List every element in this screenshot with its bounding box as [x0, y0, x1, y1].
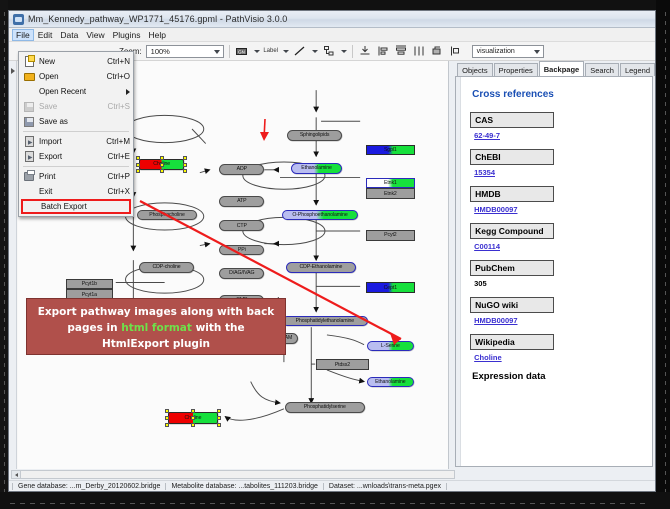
- selection-handle[interactable]: [165, 409, 169, 413]
- pathway-gene-node[interactable]: Pcyt1b: [66, 279, 113, 290]
- file-menu-separator-2: [23, 166, 129, 167]
- status-area: Gene database: ...m_Derby_20120602.bridg…: [9, 469, 655, 491]
- pathway-gene-node[interactable]: Etnk2: [366, 188, 415, 199]
- xref-source-box: Wikipedia: [470, 334, 554, 350]
- file-menu-item-exit[interactable]: Exit Ctrl+X: [19, 184, 133, 199]
- file-menu-label-print: Print: [39, 172, 108, 181]
- datanode-icon: GN: [236, 46, 247, 57]
- submenu-arrow-icon: [126, 89, 130, 95]
- selection-handle[interactable]: [136, 169, 140, 173]
- pathway-metabolite-node[interactable]: CDP-choline: [139, 262, 194, 273]
- selection-handle[interactable]: [160, 156, 164, 160]
- xref-list: CAS62-49-7ChEBI15354HMDBHMDB00097Kegg Co…: [470, 112, 642, 362]
- backpage-panel[interactable]: Cross references CAS62-49-7ChEBI15354HMD…: [455, 76, 653, 467]
- pathway-node-label: ADP: [237, 166, 247, 172]
- pathway-node-label: Cept1: [384, 285, 397, 291]
- pathway-node-label: L-Serine: [381, 343, 400, 349]
- selection-handle[interactable]: [165, 416, 169, 420]
- file-menu-dropdown[interactable]: New Ctrl+N Open Ctrl+O Open Recent Save …: [18, 51, 134, 217]
- selection-handle[interactable]: [136, 156, 140, 160]
- xref-source-box: NuGO wiki: [470, 297, 554, 313]
- file-menu-item-new[interactable]: New Ctrl+N: [19, 54, 133, 69]
- backpage-gutter: [456, 77, 461, 466]
- pathway-node-label: Ethanolamine: [301, 165, 332, 171]
- desktop-frame-bottom: [0, 492, 670, 509]
- pathway-node-label: CDP-Ethanolamine: [300, 264, 343, 270]
- file-menu-label-save: Save: [39, 102, 108, 111]
- pathway-node-label: Phosphatidylserine: [304, 404, 346, 410]
- toolbar-separator-2: [352, 45, 353, 58]
- file-menu-item-open-recent[interactable]: Open Recent: [19, 84, 133, 99]
- selection-handle[interactable]: [217, 409, 221, 413]
- pathway-node-label: CTP: [237, 223, 247, 229]
- pathway-node-label: Etnk2: [384, 191, 397, 197]
- file-menu-shortcut-new: Ctrl+N: [107, 57, 130, 66]
- selection-handle[interactable]: [191, 423, 195, 427]
- status-bar: Gene database: ...m_Derby_20120602.bridg…: [9, 480, 655, 491]
- visualization-combobox[interactable]: visualization: [472, 45, 544, 58]
- callout-line-3: HtmlExport plugin: [27, 336, 285, 352]
- distribute-icon: [413, 45, 425, 57]
- file-menu-item-import[interactable]: Import Ctrl+M: [19, 134, 133, 149]
- menu-file[interactable]: File: [12, 29, 34, 41]
- canvas-left-gutter: [9, 61, 17, 469]
- zoom-value: 100%: [151, 47, 170, 56]
- chevron-down-icon-2: [534, 50, 540, 54]
- interaction-dropdown-icon[interactable]: [340, 45, 347, 57]
- callout-line-2: pages in html format with the: [27, 320, 285, 336]
- file-menu-item-export[interactable]: Export Ctrl+E: [19, 149, 133, 164]
- frame-dashed-line-bottom: [10, 503, 650, 504]
- file-menu-label-save-as: Save as: [39, 117, 130, 126]
- file-menu-label-exit: Exit: [39, 187, 108, 196]
- align-top-button[interactable]: [358, 44, 372, 58]
- pathway-node-label: Phosphatidylethanolamine: [296, 318, 354, 324]
- pathway-metabolite-node[interactable]: Ethanolamine: [291, 163, 343, 174]
- blank-icon-3: [24, 200, 38, 213]
- menu-help[interactable]: Help: [145, 29, 170, 41]
- file-menu-label-import: Import: [39, 137, 106, 146]
- file-menu-item-batch-export[interactable]: Batch Export: [21, 199, 131, 214]
- save-as-icon: [22, 115, 36, 128]
- selection-handle[interactable]: [217, 423, 221, 427]
- pathway-metabolite-node[interactable]: CDP-Ethanolamine: [286, 262, 356, 273]
- selection-handle[interactable]: [160, 163, 164, 167]
- callout-line-2-pre: pages in: [67, 322, 121, 334]
- selection-handle[interactable]: [136, 163, 140, 167]
- pathway-metabolite-node[interactable]: O-Phosphoethanolamine: [282, 210, 358, 221]
- print-icon: [22, 170, 36, 183]
- pathway-gene-node[interactable]: Cept1: [366, 282, 415, 293]
- svg-text:GN: GN: [238, 49, 245, 54]
- line-button[interactable]: [293, 44, 307, 58]
- selection-handle[interactable]: [191, 409, 195, 413]
- blank-icon: [22, 85, 36, 98]
- frame-dashed-line-right: [665, 12, 666, 492]
- status-dataset: Dataset: ...wnloads\trans-meta.pgex: [324, 483, 447, 490]
- pathway-metabolite-node[interactable]: ATP: [219, 196, 264, 207]
- menu-bar: File Edit Data View Plugins Help: [9, 28, 655, 42]
- file-menu-item-save[interactable]: Save Ctrl+S: [19, 99, 133, 114]
- status-metabolite-database: Metabolite database: ...tabolites_111203…: [166, 483, 323, 490]
- pathway-node-label: Ptdss2: [335, 362, 350, 368]
- interaction-button[interactable]: [322, 44, 336, 58]
- file-menu-shortcut-exit: Ctrl+X: [108, 187, 130, 196]
- pathway-node-label: Pcyt1a: [82, 292, 97, 298]
- stack-icon: [449, 45, 461, 57]
- selection-handle[interactable]: [183, 169, 187, 173]
- selection-handle[interactable]: [191, 416, 195, 420]
- datanode-button[interactable]: GN: [235, 44, 249, 58]
- pathway-metabolite-node[interactable]: Ethanolamine: [367, 377, 414, 388]
- pathway-node-label: ATP: [237, 198, 246, 204]
- line-dropdown-icon[interactable]: [311, 45, 318, 57]
- status-gene-database: Gene database: ...m_Derby_20120602.bridg…: [12, 483, 166, 490]
- pathway-node-label: D/AG/IVAG: [229, 270, 254, 276]
- align-center-button[interactable]: [394, 44, 408, 58]
- label-dropdown-icon[interactable]: [282, 45, 289, 57]
- menu-plugins[interactable]: Plugins: [109, 29, 145, 41]
- selection-handle[interactable]: [183, 156, 187, 160]
- canvas-horizontal-scrollbar[interactable]: [11, 470, 455, 479]
- callout-line-2-highlight: html format: [121, 322, 192, 334]
- xref-link[interactable]: Choline: [474, 353, 642, 362]
- annotation-callout: Export pathway images along with back pa…: [26, 298, 286, 355]
- window-title: Mm_Kennedy_pathway_WP1771_45176.gpml - P…: [28, 14, 287, 24]
- pathway-gene-node[interactable]: Etnk1: [366, 178, 415, 189]
- selection-handle[interactable]: [160, 169, 164, 173]
- pathway-node-label: Phosphocholine: [149, 212, 185, 218]
- selection-handle[interactable]: [217, 416, 221, 420]
- file-menu-shortcut-open: Ctrl+O: [107, 72, 130, 81]
- xref-source-box: PubChem: [470, 260, 554, 276]
- file-menu-shortcut-print: Ctrl+P: [108, 172, 130, 181]
- backpage-content: Cross references CAS62-49-7ChEBI15354HMD…: [470, 89, 642, 382]
- pathway-metabolite-node[interactable]: Sphingolipids: [287, 130, 343, 141]
- chevron-down-icon: [214, 50, 220, 54]
- open-folder-icon: [22, 70, 36, 83]
- zoom-combobox[interactable]: 100%: [146, 45, 224, 58]
- stack-button[interactable]: [448, 44, 462, 58]
- menu-edit[interactable]: Edit: [34, 29, 57, 41]
- import-icon: [22, 135, 36, 148]
- expression-data-title: Expression data: [472, 371, 642, 382]
- desktop-frame-right: [656, 0, 670, 509]
- file-menu-separator-1: [23, 131, 129, 132]
- datanode-dropdown-icon[interactable]: [253, 45, 260, 57]
- file-menu-item-print[interactable]: Print Ctrl+P: [19, 169, 133, 184]
- xref-link[interactable]: C00114: [474, 242, 642, 251]
- file-menu-shortcut-import: Ctrl+M: [106, 137, 130, 146]
- pathway-node-label: Etnk1: [384, 180, 397, 186]
- menu-view[interactable]: View: [82, 29, 108, 41]
- pathway-node-label: O-Phosphoethanolamine: [292, 212, 347, 218]
- desktop-frame-top: [0, 0, 670, 10]
- frame-dashed-line-left: [4, 12, 5, 492]
- xref-source-box: HMDB: [470, 186, 554, 202]
- pathway-gene-node[interactable]: Pcyt2: [366, 230, 415, 241]
- tab-properties[interactable]: Properties: [494, 63, 538, 76]
- align-left-button[interactable]: [376, 44, 390, 58]
- interaction-icon: [323, 45, 335, 57]
- file-menu-label-open: Open: [39, 72, 107, 81]
- pathway-metabolite-node[interactable]: Phosphatidylserine: [285, 402, 365, 413]
- file-menu-shortcut-export: Ctrl+E: [108, 152, 130, 161]
- sidebar-tab-strip: Objects Properties Backpage Search Legen…: [449, 61, 655, 76]
- xref-value: 305: [474, 279, 642, 288]
- distribute-button[interactable]: [412, 44, 426, 58]
- xref-link[interactable]: 15354: [474, 168, 642, 177]
- pathway-node-label: Sgpl1: [384, 147, 397, 153]
- menu-data[interactable]: Data: [56, 29, 82, 41]
- callout-line-1: Export pathway images along with back: [27, 304, 285, 320]
- align-top-icon: [359, 45, 371, 57]
- visualization-value: visualization: [477, 48, 515, 55]
- pathway-metabolite-node[interactable]: ADP: [219, 164, 264, 175]
- align-center-icon: [395, 45, 407, 57]
- pathway-gene-node[interactable]: Sgpl1: [366, 145, 415, 156]
- pathway-node-label: Ethanolamine: [375, 379, 406, 385]
- selection-handle[interactable]: [165, 423, 169, 427]
- screenshot-root: Mm_Kennedy_pathway_WP1771_45176.gpml - P…: [0, 0, 670, 509]
- label-button-text: Label: [263, 48, 278, 54]
- save-icon: [22, 100, 36, 113]
- xref-source-box: CAS: [470, 112, 554, 128]
- pathvisio-icon: [13, 14, 24, 25]
- tab-backpage[interactable]: Backpage: [539, 61, 584, 76]
- pathway-metabolite-node[interactable]: CTP: [219, 220, 264, 231]
- selection-handle[interactable]: [183, 163, 187, 167]
- file-menu-shortcut-save: Ctrl+S: [108, 102, 130, 111]
- cross-references-title: Cross references: [472, 89, 642, 100]
- toolbar-separator: [229, 45, 230, 58]
- pathway-node-label: PPi: [238, 247, 246, 253]
- file-menu-label-export: Export: [39, 152, 108, 161]
- tab-objects[interactable]: Objects: [457, 63, 492, 76]
- pathway-node-label: Sphingolipids: [300, 132, 330, 138]
- new-document-icon: [22, 55, 36, 68]
- pathway-metabolite-node[interactable]: Phosphatidylethanolamine: [282, 316, 368, 327]
- right-sidebar: Objects Properties Backpage Search Legen…: [449, 61, 655, 469]
- pathway-metabolite-node[interactable]: Phosphocholine: [137, 210, 197, 221]
- export-icon: [22, 150, 36, 163]
- line-icon: [294, 45, 306, 57]
- pathway-node-label: Pcyt1b: [82, 281, 97, 287]
- label-button[interactable]: Label: [264, 44, 278, 58]
- file-menu-label-batch-export: Batch Export: [41, 202, 128, 211]
- xref-link[interactable]: HMDB00097: [474, 205, 642, 214]
- file-menu-label-new: New: [39, 57, 107, 66]
- pathway-metabolite-node[interactable]: PPi: [219, 245, 264, 256]
- file-menu-item-open[interactable]: Open Ctrl+O: [19, 69, 133, 84]
- group-button[interactable]: [430, 44, 444, 58]
- blank-icon-2: [22, 185, 36, 198]
- pathway-node-label: Pcyt2: [384, 232, 396, 238]
- file-menu-label-open-recent: Open Recent: [39, 87, 122, 96]
- pathway-metabolite-node[interactable]: L-Serine: [367, 341, 414, 352]
- pathway-gene-node[interactable]: Ptdss2: [316, 359, 369, 370]
- callout-line-2-post: with the: [192, 322, 245, 334]
- align-left-icon: [377, 45, 389, 57]
- pathway-metabolite-node[interactable]: D/AG/IVAG: [219, 268, 264, 279]
- xref-source-box: ChEBI: [470, 149, 554, 165]
- tab-search[interactable]: Search: [585, 63, 619, 76]
- pathway-node-label: CDP-choline: [153, 264, 181, 270]
- xref-source-box: Kegg Compound: [470, 223, 554, 239]
- xref-link[interactable]: HMDB00097: [474, 316, 642, 325]
- pathvisio-window: Mm_Kennedy_pathway_WP1771_45176.gpml - P…: [8, 10, 656, 492]
- group-icon: [431, 45, 443, 57]
- tab-legend[interactable]: Legend: [620, 63, 655, 76]
- title-bar: Mm_Kennedy_pathway_WP1771_45176.gpml - P…: [9, 11, 655, 28]
- file-menu-item-save-as[interactable]: Save as: [19, 114, 133, 129]
- scroll-left-button[interactable]: [12, 471, 21, 478]
- xref-link[interactable]: 62-49-7: [474, 131, 642, 140]
